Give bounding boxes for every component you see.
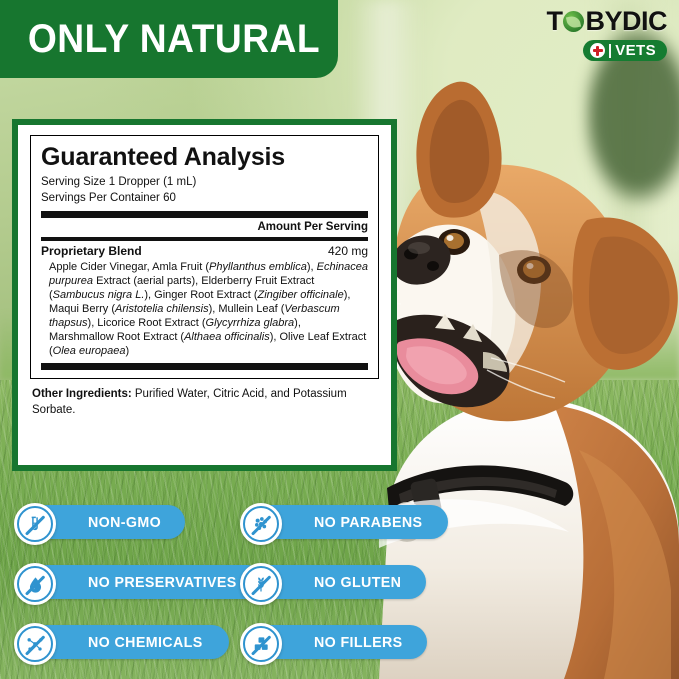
brand-letter-t: T [546, 8, 562, 35]
divider-bottom [41, 363, 368, 370]
facts-box: Guaranteed Analysis Serving Size 1 Dropp… [30, 135, 379, 379]
vets-label: VETS [615, 43, 656, 58]
molecule-icon [240, 503, 282, 545]
badge-pill: NO CHEMICALS [36, 625, 229, 659]
other-ingredients-label: Other Ingredients: [32, 388, 132, 400]
icon-ring [17, 506, 53, 542]
servings-per-container: Servings Per Container 60 [41, 191, 368, 207]
other-ingredients: Other Ingredients: Purified Water, Citri… [30, 379, 379, 418]
badge-pill: NON-GMO [36, 505, 185, 539]
icon-ring [243, 626, 279, 662]
amount-per-serving-header: Amount Per Serving [41, 218, 368, 237]
facts-title: Guaranteed Analysis [41, 144, 368, 170]
badge-pill: NO PARABENS [262, 505, 448, 539]
divider [609, 44, 611, 58]
cubes-icon [240, 623, 282, 665]
proprietary-blend-row: Proprietary Blend 420 mg [41, 241, 368, 259]
medical-cross-icon [590, 43, 605, 58]
icon-ring [243, 506, 279, 542]
badge-label: NON-GMO [88, 515, 161, 530]
water-drop-icon [14, 563, 56, 605]
facts-white-background: Guaranteed Analysis Serving Size 1 Dropp… [18, 125, 391, 465]
benefit-badges: NON-GMO NO PRESERVATIVES [0, 497, 679, 679]
brand-letters-bydic: BYDIC [585, 8, 667, 35]
ingredient-list: Apple Cider Vinegar, Amla Fruit (Phyllan… [41, 259, 368, 362]
badge-pill: NO PRESERVATIVES [36, 565, 264, 599]
test-tube-icon [14, 503, 56, 545]
wheat-icon [240, 563, 282, 605]
badge-pill: NO FILLERS [262, 625, 427, 659]
serving-size: Serving Size 1 Dropper (1 mL) [41, 175, 368, 191]
badge-label: NO PARABENS [314, 515, 422, 530]
icon-ring [243, 566, 279, 602]
leaf-icon [563, 11, 584, 32]
blend-amount: 420 mg [328, 244, 368, 258]
guaranteed-analysis-panel: Guaranteed Analysis Serving Size 1 Dropp… [12, 119, 397, 471]
blend-name: Proprietary Blend [41, 244, 142, 258]
badge-label: NO FILLERS [314, 635, 403, 650]
vets-badge-wrap: VETS [503, 40, 667, 61]
divider-thick [41, 211, 368, 218]
icon-ring [17, 566, 53, 602]
brand-logo: T BYDIC VETS [503, 8, 667, 70]
badge-label: NO CHEMICALS [88, 635, 203, 650]
brand-wordmark: T BYDIC [503, 8, 667, 35]
badge-pill: NO GLUTEN [262, 565, 426, 599]
badge-label: NO GLUTEN [314, 575, 401, 590]
product-label-image: ONLY NATURAL T BYDIC VETS Guaranteed Ana… [0, 0, 679, 679]
vets-badge: VETS [583, 40, 667, 61]
banner-headline: ONLY NATURAL [0, 19, 320, 59]
icon-ring [17, 626, 53, 662]
only-natural-banner: ONLY NATURAL [0, 0, 338, 78]
badge-label: NO PRESERVATIVES [88, 575, 237, 590]
atom-icon [14, 623, 56, 665]
